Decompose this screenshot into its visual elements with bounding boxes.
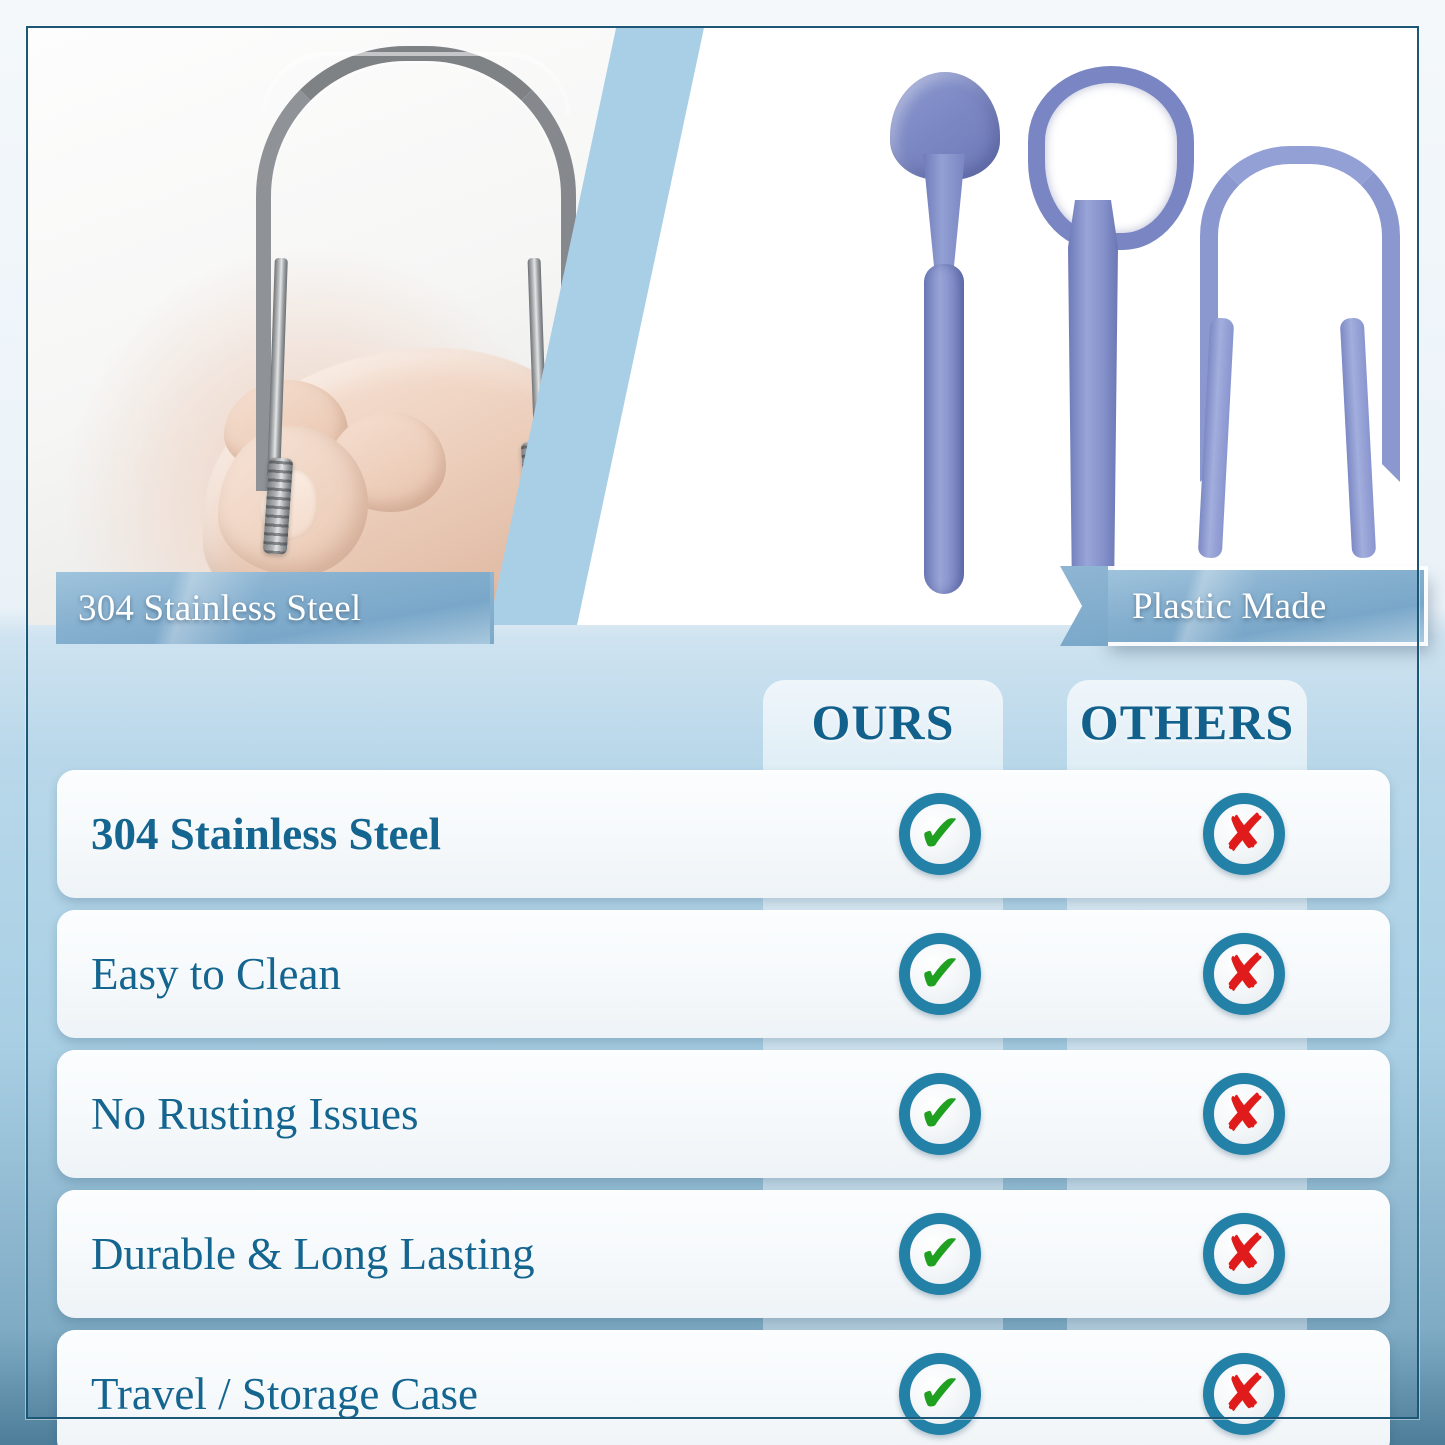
- check-icon: ✔: [899, 793, 981, 875]
- product-comparison-infographic: 304 Stainless Steel Plastic Made OURS OT…: [0, 0, 1445, 1445]
- check-glyph: ✔: [918, 1088, 962, 1140]
- cross-glyph: ✘: [1222, 948, 1266, 1000]
- cross-icon: ✘: [1203, 933, 1285, 1015]
- check-glyph: ✔: [918, 808, 962, 860]
- feature-label: Easy to Clean: [57, 948, 341, 1000]
- check-glyph: ✔: [918, 1368, 962, 1420]
- cross-icon: ✘: [1203, 1213, 1285, 1295]
- banner-right-label: Plastic Made: [1132, 585, 1327, 628]
- cross-glyph: ✘: [1222, 1228, 1266, 1280]
- banner-right-plastic-made: Plastic Made: [1104, 570, 1424, 642]
- table-row: Travel / Storage Case ✔ ✘: [57, 1330, 1390, 1445]
- table-row: No Rusting Issues ✔ ✘: [57, 1050, 1390, 1178]
- comparison-row-list: 304 Stainless Steel ✔ ✘ Easy to Clean ✔ …: [57, 770, 1390, 1445]
- check-icon: ✔: [899, 1073, 981, 1155]
- banner-left-label: 304 Stainless Steel: [78, 587, 361, 630]
- photo-panel-group: [28, 28, 1417, 625]
- feature-label: No Rusting Issues: [57, 1088, 419, 1140]
- feature-label: 304 Stainless Steel: [57, 808, 441, 860]
- check-icon: ✔: [899, 933, 981, 1015]
- plastic-scraper-paddle-neck: [923, 154, 965, 274]
- feature-label: Travel / Storage Case: [57, 1368, 478, 1420]
- table-row: Durable & Long Lasting ✔ ✘: [57, 1190, 1390, 1318]
- table-row: 304 Stainless Steel ✔ ✘: [57, 770, 1390, 898]
- cross-icon: ✘: [1203, 1073, 1285, 1155]
- column-header-ours: OURS: [763, 693, 1003, 751]
- banner-left-stainless-steel: 304 Stainless Steel: [56, 572, 494, 644]
- cross-icon: ✘: [1203, 793, 1285, 875]
- check-icon: ✔: [899, 1353, 981, 1435]
- cross-glyph: ✘: [1222, 808, 1266, 860]
- check-glyph: ✔: [918, 948, 962, 1000]
- cross-glyph: ✘: [1222, 1368, 1266, 1420]
- check-icon: ✔: [899, 1213, 981, 1295]
- cross-icon: ✘: [1203, 1353, 1285, 1435]
- feature-label: Durable & Long Lasting: [57, 1228, 535, 1280]
- column-header-others: OTHERS: [1067, 693, 1307, 751]
- table-row: Easy to Clean ✔ ✘: [57, 910, 1390, 1038]
- cross-glyph: ✘: [1222, 1088, 1266, 1140]
- plastic-scraper-paddle-handle: [924, 264, 964, 594]
- plastic-scraper-loop-handle: [1068, 200, 1118, 595]
- plastic-scraper-u-head: [1200, 146, 1400, 482]
- comparison-table: OURS OTHERS 304 Stainless Steel ✔ ✘ Easy…: [0, 625, 1445, 1445]
- check-glyph: ✔: [918, 1228, 962, 1280]
